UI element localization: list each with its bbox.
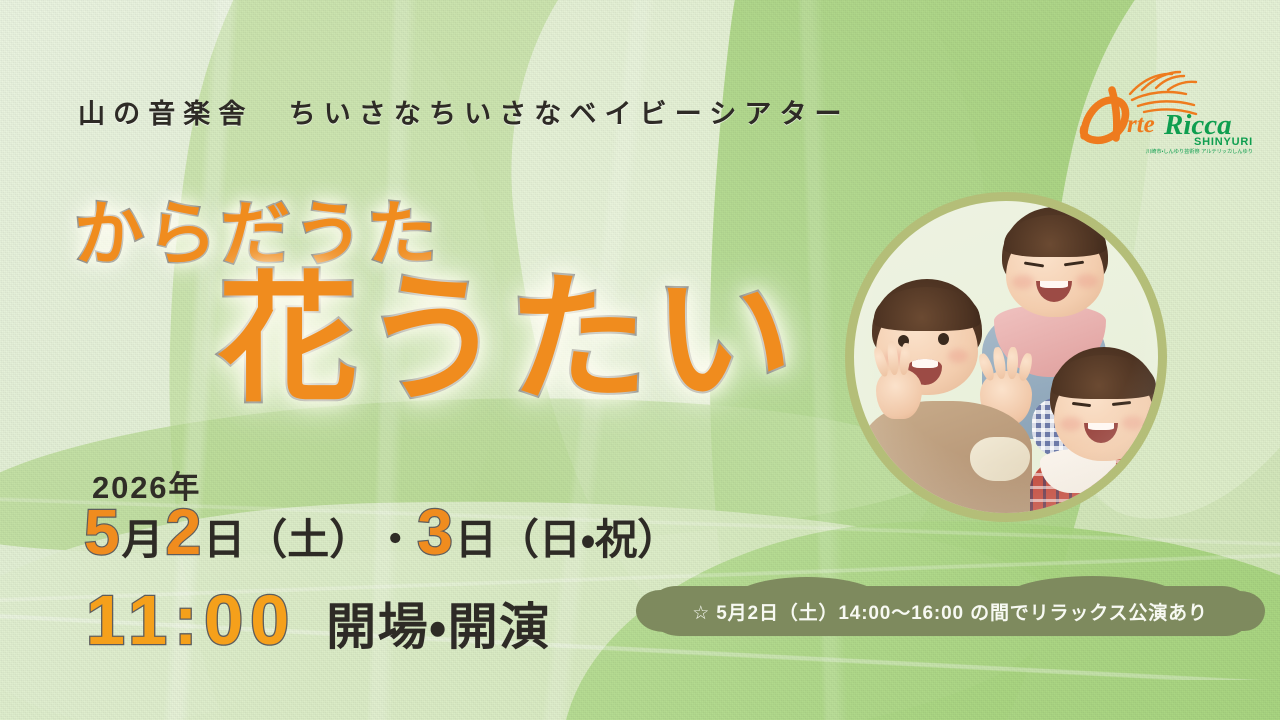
babies-photo-frame bbox=[845, 192, 1167, 522]
event-day1-label: 日（土） bbox=[203, 519, 371, 561]
event-day2-label: 日（日・祝） bbox=[455, 519, 679, 561]
svg-text:SHINYURI: SHINYURI bbox=[1194, 136, 1253, 148]
event-time-clock: 11:00 bbox=[86, 585, 296, 655]
event-date-separator: ・ bbox=[374, 519, 416, 561]
baby-center-teeth bbox=[1040, 281, 1067, 288]
poster-kicker: 山の音楽舎 ちいさなちいさなベイビーシアター bbox=[78, 92, 850, 131]
event-time-label: 開場・開演 bbox=[326, 602, 551, 652]
poster-content: 山の音楽舎 ちいさなちいさなベイビーシアター からだうた 花うたい 2026年 … bbox=[0, 0, 1280, 720]
baby-left-eye-right bbox=[938, 333, 949, 345]
baby-right-cheek-left bbox=[1060, 417, 1082, 431]
event-day2-number: 3 bbox=[417, 500, 453, 564]
event-date: 5 月 2 日（土） ・ 3 日（日・祝） bbox=[84, 500, 681, 564]
event-month-label: 月 bbox=[122, 519, 164, 561]
baby-right-cheek-right bbox=[1122, 416, 1144, 430]
arte-ricca-logo: rte Ricca SHINYURI 川崎市・しんゆり芸術祭 アルテリッカしんゆ… bbox=[1072, 60, 1258, 156]
baby-right-teeth bbox=[1088, 423, 1114, 430]
baby-left-cuff bbox=[970, 437, 1030, 481]
relaxed-performance-text: ☆ 5月2日（土）14:00〜16:00 の間でリラックス公演あり bbox=[692, 598, 1208, 625]
event-month-number: 5 bbox=[84, 500, 120, 564]
baby-center-cheek-right bbox=[1076, 274, 1098, 288]
event-time: 11:00 開場・開演 bbox=[86, 585, 551, 655]
poster-canvas: 山の音楽舎 ちいさなちいさなベイビーシアター からだうた 花うたい 2026年 … bbox=[0, 0, 1280, 720]
babies-photo bbox=[854, 201, 1158, 513]
poster-title: 花うたい bbox=[218, 270, 798, 410]
relaxed-performance-banner: ☆ 5月2日（土）14:00〜16:00 の間でリラックス公演あり bbox=[648, 586, 1252, 636]
baby-left-teeth bbox=[912, 359, 938, 368]
svg-text:rte: rte bbox=[1127, 111, 1155, 138]
svg-text:川崎市・しんゆり芸術祭 アルテリッカしんゆり: 川崎市・しんゆり芸術祭 アルテリッカしんゆり bbox=[1146, 147, 1253, 155]
baby-left-cheek-right bbox=[948, 349, 968, 363]
baby-center-cheek-left bbox=[1012, 275, 1034, 289]
event-day1-number: 2 bbox=[166, 500, 202, 564]
